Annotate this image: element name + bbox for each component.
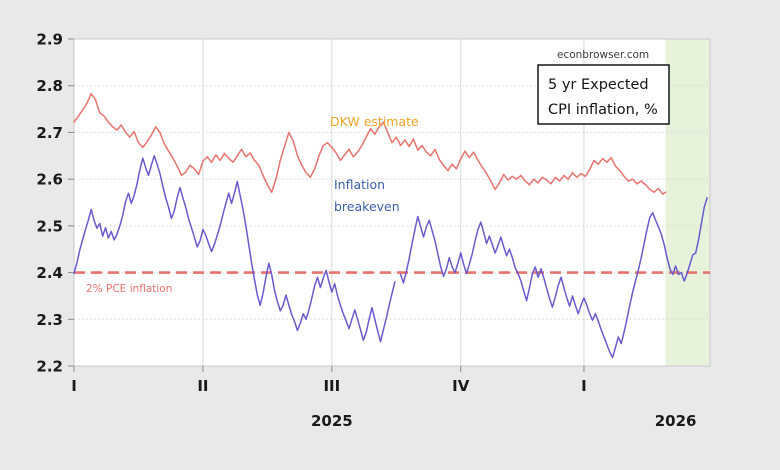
x-axis-tick-label: II — [197, 377, 208, 395]
x-axis-tick-label: III — [323, 377, 340, 395]
x-axis-tick-label: I — [581, 377, 587, 395]
breakeven-series-label-line2: breakeven — [334, 199, 400, 214]
y-axis-tick-label: 2.4 — [36, 264, 63, 282]
dkw-series-label: DKW estimate — [330, 114, 419, 129]
y-axis-tick-label: 2.9 — [36, 31, 63, 49]
y-axis-tick-label: 2.6 — [36, 171, 63, 189]
inflation-expectations-chart: 2.22.32.42.52.62.72.82.9 IIIIIIIVI 20252… — [0, 0, 780, 470]
y-axis-tick-label: 2.7 — [36, 124, 63, 142]
y-axis-tick-label: 2.8 — [36, 77, 63, 95]
forecast-shaded-region — [666, 39, 710, 366]
x-axis-year-label: 2025 — [311, 412, 353, 430]
y-axis-tick-label: 2.3 — [36, 311, 63, 329]
y-axis-tick-label: 2.2 — [36, 358, 63, 376]
legend-title-line2: CPI inflation, % — [548, 102, 658, 118]
x-axis-tick-label: IV — [452, 377, 470, 395]
chart-container: 2.22.32.42.52.62.72.82.9 IIIIIIIVI 20252… — [0, 0, 780, 470]
x-axis-tick-label: I — [71, 377, 77, 395]
breakeven-series-label-line1: Inflation — [334, 177, 385, 192]
econbrowser-watermark: econbrowser.com — [557, 49, 649, 61]
legend-title-line1: 5 yr Expected — [548, 77, 649, 93]
x-axis-year-label: 2026 — [655, 412, 697, 430]
y-axis-tick-label: 2.5 — [36, 217, 63, 235]
pce-reference-label: 2% PCE inflation — [86, 283, 172, 295]
